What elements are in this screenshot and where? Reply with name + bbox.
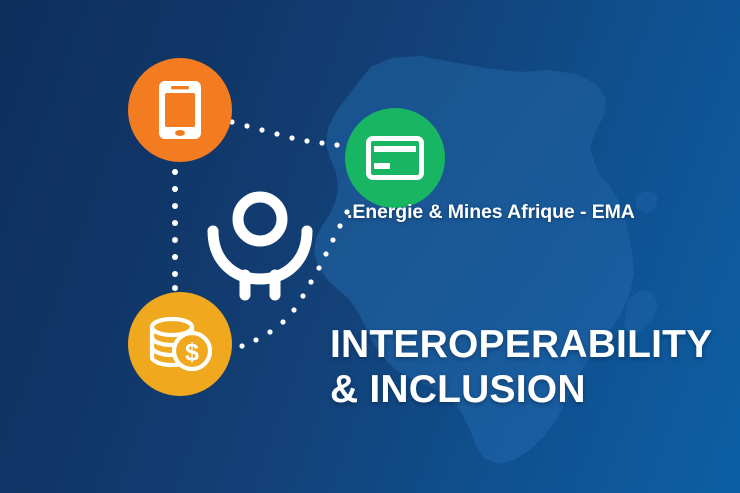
organisation-subtitle: .Energie & Mines Afrique - EMA	[347, 201, 635, 224]
person-arms-raised-icon	[201, 183, 319, 301]
page-title: INTEROPERABILITY & INCLUSION	[330, 322, 712, 412]
smartphone-icon	[157, 79, 203, 141]
interoperability-inclusion-banner: $ .Energie & Mines Afrique - EMA INTEROP…	[0, 0, 740, 493]
page-title-line-2: & INCLUSION	[330, 367, 712, 412]
node-credit-card[interactable]	[345, 108, 445, 208]
connector-phone-to-card	[229, 119, 339, 147]
node-mobile-phone[interactable]	[128, 58, 232, 162]
coins-dollar-icon: $	[148, 316, 212, 372]
node-coins-cash[interactable]: $	[128, 292, 232, 396]
connector-phone-to-coins	[172, 169, 178, 291]
svg-text:$: $	[185, 339, 199, 367]
credit-card-icon	[366, 136, 424, 180]
page-title-line-1: INTEROPERABILITY	[330, 323, 712, 366]
connector-network	[0, 0, 740, 493]
